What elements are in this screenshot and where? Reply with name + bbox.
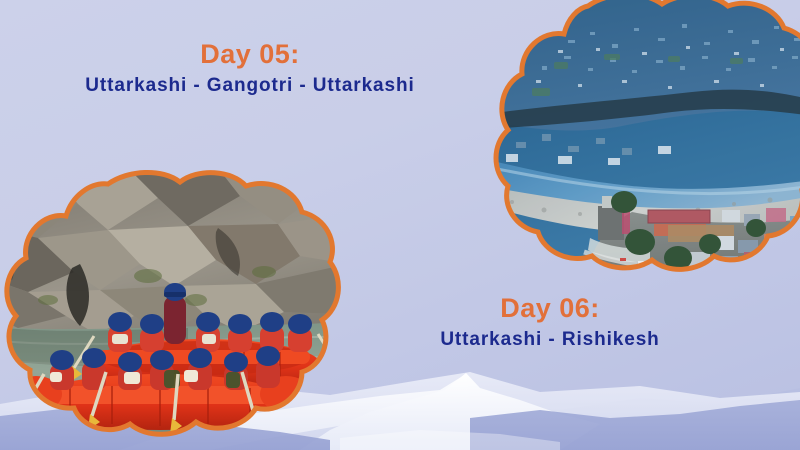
day-05-entry: Day 05: Uttarkashi - Gangotri - Uttarkas… [60, 38, 440, 99]
day-05-label: Day 05: [60, 38, 440, 70]
day-05-route: Uttarkashi - Gangotri - Uttarkashi [60, 73, 440, 99]
river-rafting-photo-content [0, 168, 348, 450]
river-rafting-photo-frame [0, 168, 348, 450]
town-aerial-photo-frame [472, 0, 800, 286]
foreground-wave-right [470, 400, 800, 450]
day-06-route: Uttarkashi - Rishikesh [400, 327, 700, 353]
raft-front [10, 346, 312, 434]
day-06-label: Day 06: [400, 292, 700, 324]
slide-canvas: Day 05: Uttarkashi - Gangotri - Uttarkas… [0, 0, 800, 450]
highlight-streak [340, 430, 560, 450]
day-06-entry: Day 06: Uttarkashi - Rishikesh [400, 292, 700, 353]
town-aerial-photo-content [472, 0, 800, 286]
